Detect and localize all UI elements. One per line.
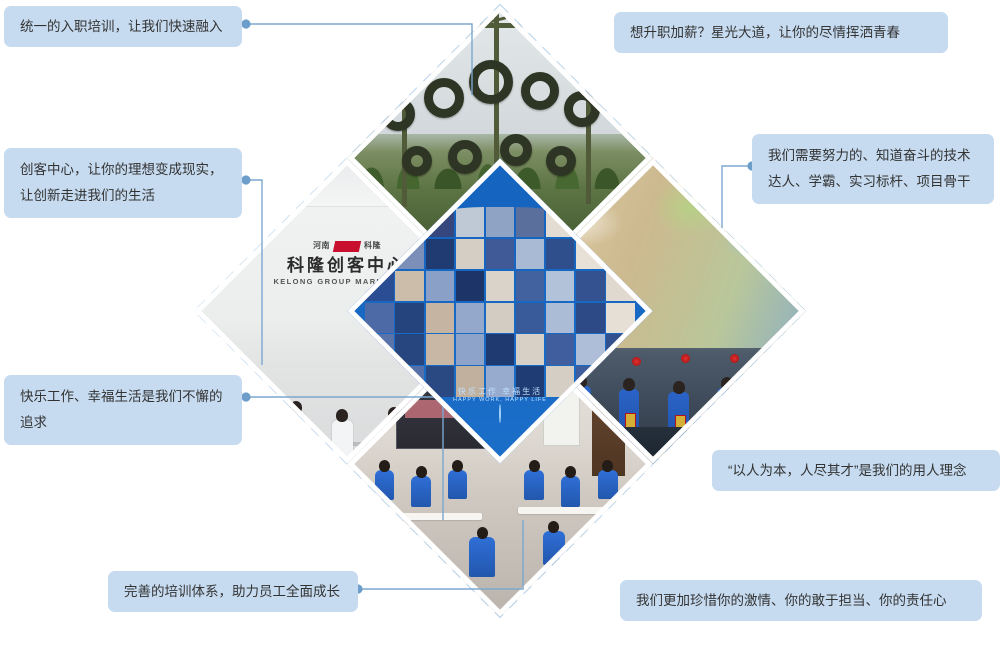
mosaic-photo-cell <box>486 239 515 269</box>
awardee-figure <box>717 388 737 452</box>
office-person <box>332 420 353 458</box>
mosaic-photo-cell <box>576 334 605 364</box>
awardee-figure <box>763 391 783 452</box>
mosaic-photo-cell <box>546 239 575 269</box>
drill-tire <box>564 91 600 127</box>
mosaic-photo-cell <box>486 207 515 237</box>
connector-talent-wanted <box>722 166 752 228</box>
trainee-figure <box>598 470 618 499</box>
trainee-figure <box>448 470 467 499</box>
mosaic-photo-cell <box>456 334 485 364</box>
trainee-figure <box>561 476 580 507</box>
kelong-logo-mark <box>333 241 361 252</box>
mosaic-photo-cell <box>516 271 545 301</box>
drill-tire <box>500 134 532 166</box>
drill-tire <box>546 146 576 176</box>
office-chair <box>274 442 300 464</box>
mosaic-photo-cell <box>576 271 605 301</box>
mosaic-photo-cell <box>546 271 575 301</box>
callout-talent-wanted[interactable]: 我们需要努力的、知道奋斗的技术 达人、学霸、实习标杆、项目骨干 <box>752 134 994 204</box>
mosaic-photo-cell <box>546 303 575 333</box>
award-flower <box>681 354 690 363</box>
drill-tire <box>381 97 415 131</box>
mosaic-photo-cell <box>395 271 424 301</box>
mosaic-photo-cell <box>426 271 455 301</box>
mosaic-photo-cell <box>426 303 455 333</box>
office-person <box>286 412 306 458</box>
mosaic-photo-cell <box>426 334 455 364</box>
callout-happy-work[interactable]: 快乐工作、幸福生活是我们不懈的 追求 <box>4 375 242 445</box>
connector-dot-happy-work <box>241 392 250 401</box>
mosaic-photo-cell <box>426 239 455 269</box>
mosaic-photo-cell <box>456 303 485 333</box>
trainee-figure <box>411 476 431 507</box>
connector-dot-onboarding <box>241 19 250 28</box>
callout-training-system[interactable]: 完善的培训体系，助力员工全面成长 <box>108 571 358 612</box>
mosaic-photo-cell <box>516 334 545 364</box>
culture-diagram-canvas: 河南 科隆 科隆创客中心 KELONG GROUP MARKER HUB <box>0 0 1000 649</box>
callout-maker-center[interactable]: 创客中心，让你的理想变成现实， 让创新走进我们的生活 <box>4 148 242 218</box>
classroom-desk <box>518 507 610 514</box>
mosaic-photo-cell <box>606 303 635 333</box>
mosaic-seal-icon <box>499 404 501 423</box>
award-flower <box>632 357 641 366</box>
mosaic-photo-cell <box>395 303 424 333</box>
mosaic-photo-cell <box>456 239 485 269</box>
trainee-figure <box>375 470 394 500</box>
mosaic-photo-cell <box>395 334 424 364</box>
trainee-figure <box>393 531 415 565</box>
trainee-figure <box>469 537 495 577</box>
award-flower <box>730 354 739 363</box>
callout-passion-responsibility[interactable]: 我们更加珍惜你的激情、你的敢于担当、你的责任心 <box>620 580 982 621</box>
drill-tire <box>448 140 482 174</box>
mosaic-photo-cell <box>456 271 485 301</box>
mosaic-photo-cell <box>576 303 605 333</box>
brand-name-label: 科隆 <box>364 242 381 251</box>
callout-onboarding[interactable]: 统一的入职培训，让我们快速融入 <box>4 6 242 47</box>
mosaic-photo-cell <box>486 303 515 333</box>
trainee-figure <box>524 470 544 500</box>
mosaic-photo-cell <box>546 334 575 364</box>
brand-region-label: 河南 <box>313 242 330 251</box>
mosaic-photo-cell <box>516 303 545 333</box>
drill-tire <box>402 146 432 176</box>
callout-people-first[interactable]: “以人为本，人尽其才”是我们的用人理念 <box>712 450 1000 491</box>
mosaic-photo-cell <box>365 303 394 333</box>
callout-promotion[interactable]: 想升职加薪？星光大道，让你的尽情挥洒青春 <box>614 12 948 53</box>
mosaic-photo-cell <box>516 207 545 237</box>
drill-tire <box>424 78 464 118</box>
mosaic-photo-cell <box>486 271 515 301</box>
classroom-desk <box>378 513 482 520</box>
mosaic-photo-cell <box>486 334 515 364</box>
connector-dot-maker-center <box>241 175 250 184</box>
trainee-figure <box>543 531 565 565</box>
mosaic-photo-cell <box>456 207 485 237</box>
mosaic-photo-cell <box>516 239 545 269</box>
drill-crossbar <box>384 23 610 28</box>
